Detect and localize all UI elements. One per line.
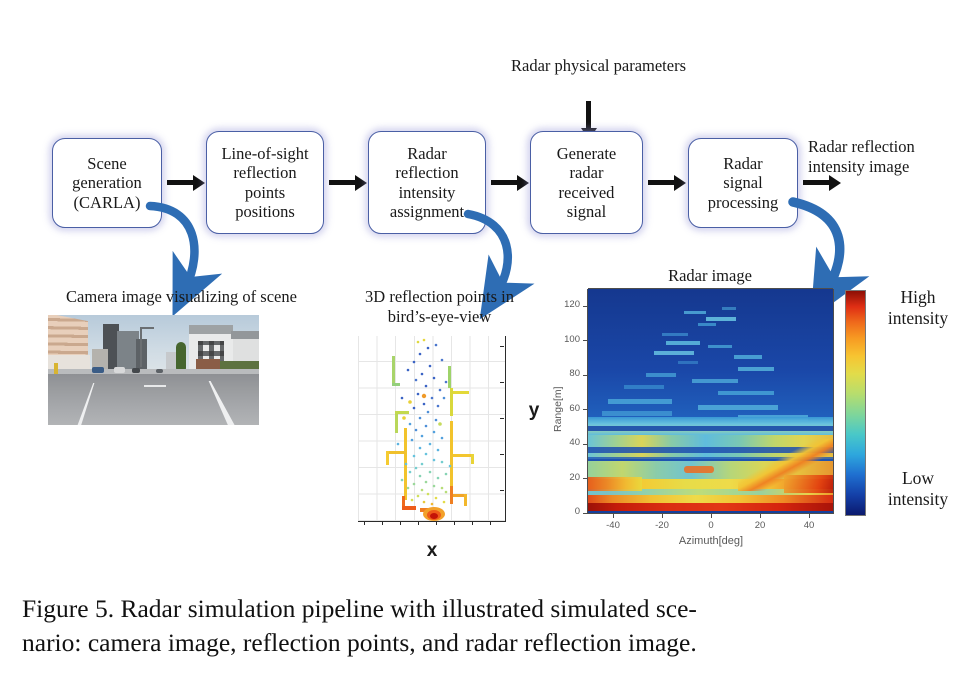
arrow-generate-to-signal-processing (648, 180, 675, 185)
radar-y-axis (587, 289, 588, 514)
output-label-line2: intensity image (808, 157, 909, 176)
radar-left-warm-patch (588, 477, 642, 491)
box-line-3: (CARLA) (68, 193, 146, 212)
pipeline-box-radar-signal-processing[interactable]: Radar signal processing (688, 138, 798, 228)
box-line-1: Line-of-sight (217, 144, 312, 163)
box-line-2: reflection (217, 163, 312, 182)
radar-x-tick-label: -40 (600, 520, 626, 531)
pipeline-box-scene-generation[interactable]: Scene generation (CARLA) (52, 138, 162, 228)
radar-ylabel: Range[m] (552, 386, 564, 432)
box-line-2: reflection (386, 163, 468, 182)
scatter-points (358, 336, 506, 522)
radar-x-tick (662, 513, 663, 518)
box-line-1: Radar (386, 144, 468, 163)
camera-pedestrian (54, 363, 58, 374)
camera-image (48, 315, 259, 425)
colorbar-high-label: High intensity (872, 287, 964, 328)
radar-y-tick (583, 375, 588, 376)
figure-caption-line1: Figure 5. Radar simulation pipeline with… (22, 592, 948, 626)
radar-x-tick (809, 513, 810, 518)
box-line-3: intensity (386, 183, 468, 202)
radar-near-range-peak (588, 503, 833, 511)
radar-physical-parameters-line2: parameters (614, 56, 686, 75)
figure-caption-line2: nario: camera image, reflection points, … (22, 626, 948, 660)
camera-house-right-2-roof (231, 331, 259, 339)
camera-streetlight (140, 327, 142, 367)
box-line-2: radar (553, 163, 621, 182)
radar-target-streak (654, 351, 694, 355)
figure-caption: Figure 5. Radar simulation pipeline with… (22, 592, 948, 660)
scatter-xlabel: x (412, 540, 452, 563)
radar-target-streak (662, 333, 688, 336)
colorbar-low-label: Low intensity (872, 468, 964, 509)
radar-x-tick (760, 513, 761, 518)
colorbar-low-line1: Low (902, 468, 934, 488)
radar-target-streak (698, 405, 778, 410)
pipeline-box-reflection-intensity-assignment[interactable]: Radar reflection intensity assignment (368, 131, 486, 234)
camera-car-dark (132, 368, 140, 373)
pipeline-box-line-of-sight[interactable]: Line-of-sight reflection points position… (206, 131, 324, 234)
radar-target-streak (708, 345, 732, 348)
colorbar-high-line1: High (901, 287, 936, 307)
radar-y-tick-label: 40 (556, 437, 580, 448)
radar-reflection-intensity-image-label: Radar reflection intensity image (808, 137, 966, 177)
box-line-2: signal (704, 173, 783, 192)
radar-x-tick-label: 20 (747, 520, 773, 531)
colorbar-low-line2: intensity (888, 489, 948, 509)
radar-y-tick-label: 120 (553, 299, 580, 310)
radar-y-tick (583, 478, 588, 479)
radar-xlabel: Azimuth[deg] (660, 535, 762, 547)
radar-y-tick-label: 100 (553, 334, 580, 345)
camera-house-right-1-roof (189, 325, 233, 334)
radar-top-spine (588, 288, 833, 289)
radar-target-streak (718, 391, 774, 395)
scatter-ylabel: y (521, 400, 547, 423)
box-line-3: received (553, 183, 621, 202)
radar-target-streak (722, 307, 736, 310)
radar-y-tick-label: 80 (556, 368, 580, 379)
camera-panel-title: Camera image visualizing of scene (44, 287, 319, 307)
output-label-line1: Radar reflection (808, 137, 915, 156)
radar-target-streak (698, 323, 716, 326)
radar-target-streak (734, 355, 762, 359)
arrow-params-to-generate-signal (586, 101, 591, 129)
radar-target-streak (706, 317, 736, 321)
radar-target-streak (624, 385, 664, 389)
arrow-lineofsight-to-intensity (329, 180, 356, 185)
box-line-4: signal (553, 202, 621, 221)
radar-x-tick (711, 513, 712, 518)
radar-x-tick-label: 0 (698, 520, 724, 531)
radar-target-streak (692, 379, 738, 383)
pipeline-box-generate-radar-received-signal[interactable]: Generate radar received signal (530, 131, 643, 234)
arrow-intensity-to-generate (491, 180, 518, 185)
radar-y-tick-label: 0 (556, 506, 580, 517)
arrow-signal-processing-to-output (803, 180, 830, 185)
box-line-3: points (217, 183, 312, 202)
scatter-title-line1: 3D reflection points (365, 287, 497, 306)
camera-car-far (156, 369, 163, 373)
box-line-1: Radar (704, 154, 783, 173)
curved-arrow-to-radar-image (793, 202, 840, 288)
radar-target-streak (608, 399, 672, 404)
camera-tree (176, 342, 186, 370)
radar-y-tick (583, 409, 588, 410)
radar-y-tick-label: 20 (556, 472, 580, 483)
scatter-plot (358, 336, 510, 526)
arrow-scene-to-lineofsight (167, 180, 194, 185)
radar-x-tick-label: -20 (649, 520, 675, 531)
radar-x-tick-label: 40 (796, 520, 822, 531)
radar-y-tick (583, 306, 588, 307)
box-line-3: processing (704, 193, 783, 212)
box-line-1: Generate (553, 144, 621, 163)
radar-y-tick (583, 513, 588, 514)
box-line-4: positions (217, 202, 312, 221)
radar-x-tick (613, 513, 614, 518)
scatter-panel-title: 3D reflection points in bird’s-eye-view (352, 287, 527, 327)
radar-y-tick (583, 340, 588, 341)
box-line-1: Scene (68, 154, 146, 173)
radar-diagonal-streak-tail (784, 475, 833, 493)
colorbar (845, 290, 866, 516)
radar-panel-title: Radar image (620, 266, 800, 286)
radar-y-tick (583, 444, 588, 445)
colorbar-high-line2: intensity (888, 308, 948, 328)
camera-car-white-1 (114, 367, 125, 373)
radar-target-streak (738, 367, 774, 371)
radar-target-streak (684, 311, 706, 314)
radar-right-spine (833, 289, 834, 514)
radar-target-streak (666, 341, 700, 345)
radar-target-streak (678, 361, 698, 364)
radar-image (588, 289, 833, 513)
box-line-4: assignment (386, 202, 468, 221)
radar-dark-band (588, 426, 833, 431)
radar-target-streak (602, 411, 672, 416)
radar-physical-parameters-line1: Radar physical (511, 56, 610, 75)
camera-lane-marking-center (144, 385, 166, 387)
camera-streetlight-arm (140, 327, 154, 329)
camera-car-blue (92, 367, 104, 373)
radar-physical-parameters-label: Radar physical parameters (496, 56, 701, 76)
box-line-2: generation (68, 173, 146, 192)
radar-target-streak (646, 373, 676, 377)
radar-hot-spot (684, 466, 714, 473)
